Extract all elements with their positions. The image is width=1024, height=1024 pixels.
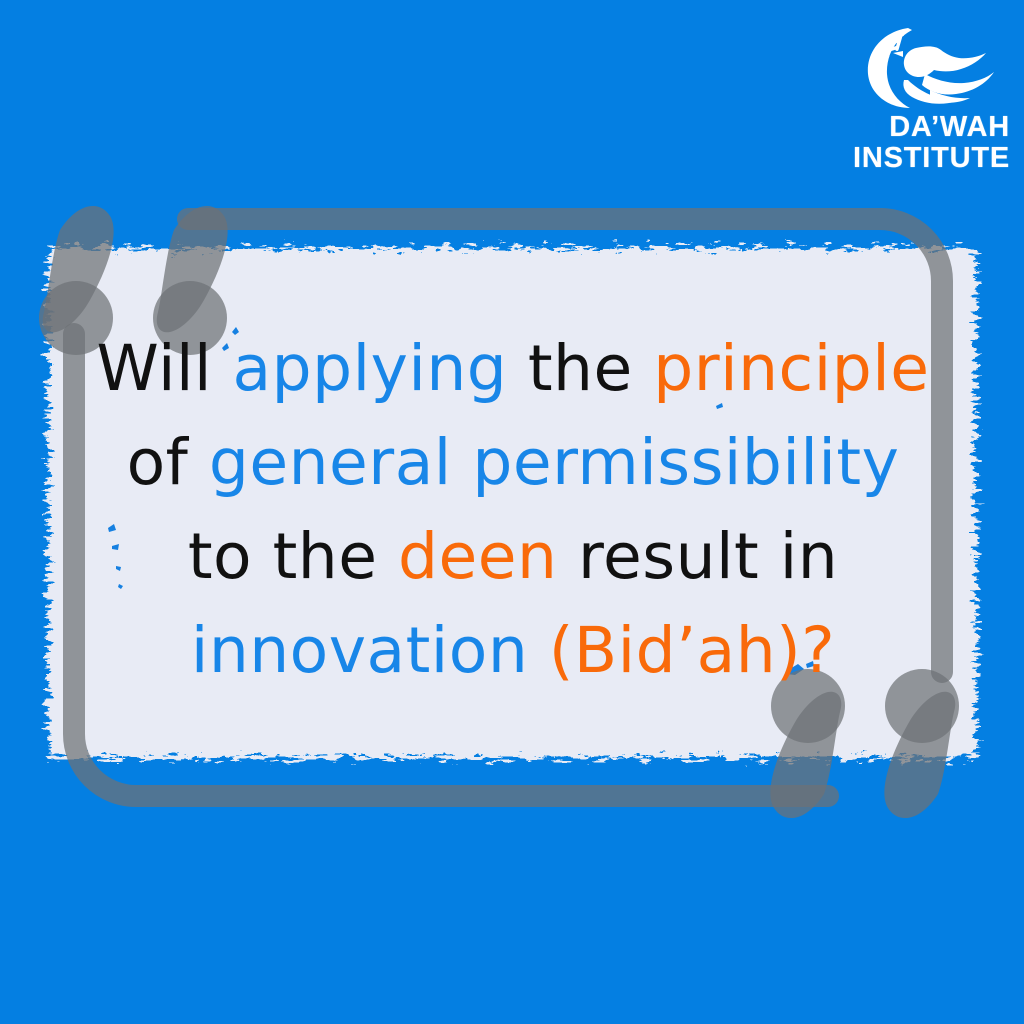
quote-segment: Will [97,332,233,405]
quote-segment: principle [653,332,929,405]
quote-segment: the [528,332,653,405]
brand-name: DA’WAH INSTITUTE [826,112,1016,175]
quote-line-4: innovation (Bid’ah)? [95,604,931,698]
quote-segment: of [127,426,209,499]
quote-line-1: Will applying the principle [95,322,931,416]
quote-card-canvas: DA’WAH INSTITUTE [0,0,1024,1024]
quote-segment: to the [188,520,398,593]
quote-segment: applying [232,332,527,405]
quote-text-block: Will applying the principleof general pe… [95,322,931,698]
quote-segment: general permissibility [209,426,900,499]
quote-segment: deen [398,520,578,593]
brand-name-line1: DA’WAH [826,112,1010,143]
quote-segment: result in [578,520,838,593]
brand-name-line2: INSTITUTE [826,143,1010,174]
quote-line-2: of general permissibility [95,416,931,510]
quote-segment: innovation [191,614,549,687]
quote-line-3: to the deen result in [95,510,931,604]
quote-segment: (Bid’ah)? [549,614,835,687]
brand-logo: DA’WAH INSTITUTE [826,22,1016,175]
dove-crescent-icon [826,22,1016,110]
